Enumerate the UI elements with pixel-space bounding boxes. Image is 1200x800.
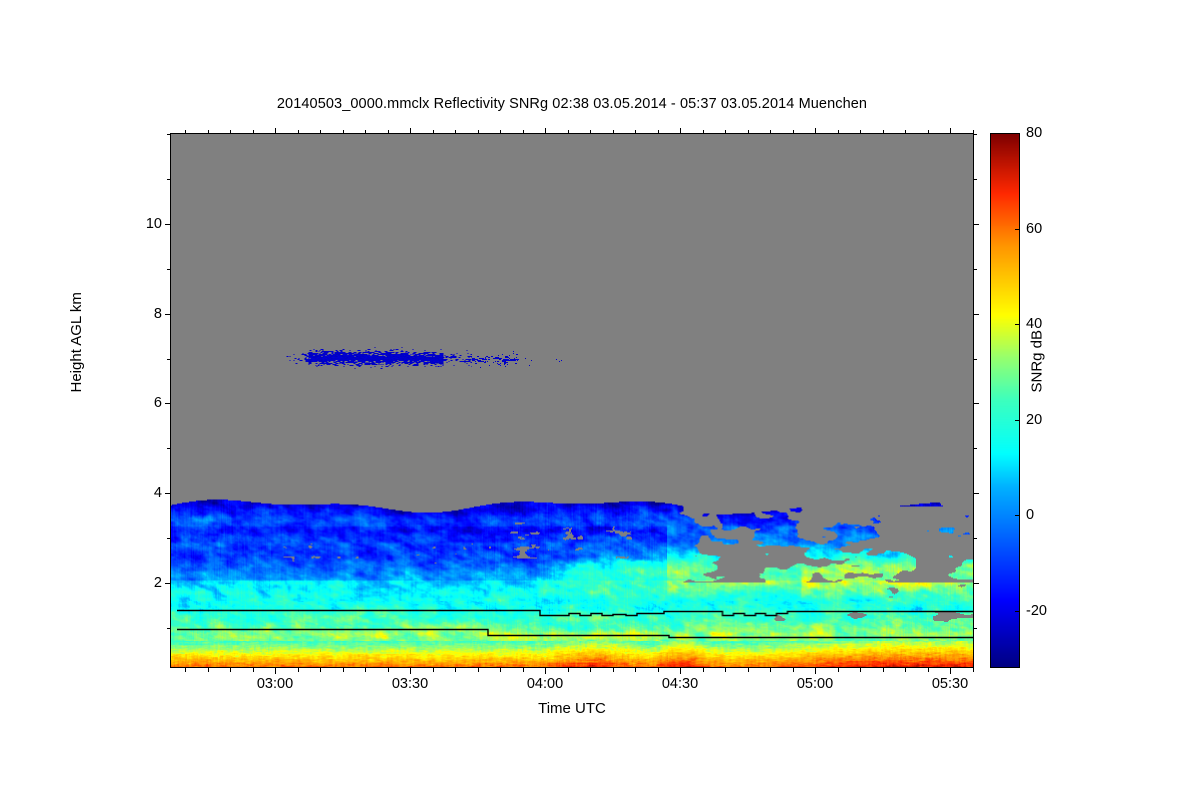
x-tick-minor bbox=[365, 668, 366, 672]
x-tick-minor bbox=[590, 668, 591, 672]
heatmap-plot-area bbox=[170, 133, 974, 668]
x-tick-minor-top bbox=[838, 130, 839, 134]
y-tick-label: 6 bbox=[124, 395, 162, 411]
y-tick-minor-right bbox=[973, 448, 977, 449]
colorbar-tick-label: 0 bbox=[1026, 507, 1034, 523]
x-tick-minor-top bbox=[680, 130, 681, 134]
y-tick-label: 8 bbox=[124, 306, 162, 322]
y-tick-minor-right bbox=[973, 403, 977, 404]
x-tick-minor bbox=[388, 668, 389, 672]
y-tick-label: 10 bbox=[124, 216, 162, 232]
x-tick-minor-top bbox=[433, 130, 434, 134]
x-tick-minor bbox=[275, 668, 276, 672]
y-tick-minor bbox=[167, 269, 171, 270]
x-tick-minor bbox=[455, 668, 456, 672]
y-tick-minor-right bbox=[973, 134, 977, 135]
x-tick-minor bbox=[500, 668, 501, 672]
y-tick-minor-right bbox=[973, 179, 977, 180]
x-tick-minor bbox=[838, 668, 839, 672]
y-tick-minor bbox=[167, 493, 171, 494]
x-tick-label: 05:30 bbox=[932, 676, 968, 692]
x-tick-minor-top bbox=[388, 130, 389, 134]
x-tick-minor bbox=[230, 668, 231, 672]
y-tick-minor bbox=[167, 314, 171, 315]
x-tick-minor bbox=[185, 668, 186, 672]
x-tick-minor-top bbox=[860, 130, 861, 134]
y-tick-label: 4 bbox=[124, 485, 162, 501]
x-tick-minor bbox=[523, 668, 524, 672]
x-tick-minor-top bbox=[253, 130, 254, 134]
x-tick-minor-top bbox=[545, 130, 546, 134]
x-axis-label: Time UTC bbox=[170, 700, 974, 717]
x-tick-minor bbox=[635, 668, 636, 672]
x-tick-minor-top bbox=[568, 130, 569, 134]
x-tick-minor-top bbox=[725, 130, 726, 134]
x-tick-minor bbox=[253, 668, 254, 672]
x-tick-label: 05:00 bbox=[797, 676, 833, 692]
x-tick-minor bbox=[928, 668, 929, 672]
colorbar-gradient bbox=[991, 134, 1019, 667]
x-tick-minor bbox=[680, 668, 681, 672]
y-axis-label: Height AGL km bbox=[68, 292, 85, 392]
y-tick-minor bbox=[167, 538, 171, 539]
y-tick-minor-right bbox=[973, 583, 977, 584]
x-tick-minor bbox=[613, 668, 614, 672]
x-tick-minor-top bbox=[275, 130, 276, 134]
colorbar-label: SNRg dB bbox=[1029, 329, 1046, 392]
x-tick-minor bbox=[770, 668, 771, 672]
colorbar-tick bbox=[1015, 611, 1020, 612]
x-tick-minor-top bbox=[185, 130, 186, 134]
x-tick-minor-top bbox=[455, 130, 456, 134]
y-tick-minor bbox=[167, 359, 171, 360]
colorbar-tick-label: -20 bbox=[1026, 603, 1047, 619]
y-tick-minor bbox=[167, 179, 171, 180]
x-tick-minor bbox=[320, 668, 321, 672]
y-tick-minor-right bbox=[973, 359, 977, 360]
x-tick-minor bbox=[883, 668, 884, 672]
colorbar-tick bbox=[1015, 324, 1020, 325]
x-tick-label: 04:30 bbox=[662, 676, 698, 692]
x-tick-minor bbox=[748, 668, 749, 672]
y-tick-minor-right bbox=[973, 314, 977, 315]
x-tick-minor-top bbox=[478, 130, 479, 134]
x-tick-minor bbox=[298, 668, 299, 672]
x-tick-minor bbox=[703, 668, 704, 672]
x-tick-minor bbox=[478, 668, 479, 672]
x-tick-label: 04:00 bbox=[527, 676, 563, 692]
x-tick-minor-top bbox=[883, 130, 884, 134]
x-tick-minor bbox=[793, 668, 794, 672]
x-tick-minor bbox=[410, 668, 411, 672]
page-title: 20140503_0000.mmclx Reflectivity SNRg 02… bbox=[170, 96, 974, 112]
x-tick-minor bbox=[725, 668, 726, 672]
x-tick-minor-top bbox=[703, 130, 704, 134]
x-tick-minor bbox=[545, 668, 546, 672]
y-tick-minor bbox=[167, 628, 171, 629]
reflectivity-heatmap-canvas bbox=[171, 134, 973, 667]
colorbar-tick bbox=[1015, 420, 1020, 421]
x-tick-minor-top bbox=[500, 130, 501, 134]
x-tick-minor bbox=[905, 668, 906, 672]
colorbar bbox=[990, 133, 1020, 668]
x-tick-minor bbox=[343, 668, 344, 672]
colorbar-tick-label: 80 bbox=[1026, 125, 1042, 141]
x-tick-label: 03:30 bbox=[392, 676, 428, 692]
x-tick-minor bbox=[950, 668, 951, 672]
x-tick-minor-top bbox=[793, 130, 794, 134]
x-tick-minor bbox=[658, 668, 659, 672]
colorbar-tick bbox=[1015, 229, 1020, 230]
colorbar-tick-label: 60 bbox=[1026, 221, 1042, 237]
colorbar-tick-label: 20 bbox=[1026, 412, 1042, 428]
x-tick-minor-top bbox=[950, 130, 951, 134]
x-tick-minor bbox=[815, 668, 816, 672]
x-tick-minor-top bbox=[613, 130, 614, 134]
x-tick-minor bbox=[860, 668, 861, 672]
x-tick-minor-top bbox=[523, 130, 524, 134]
x-tick-minor bbox=[973, 668, 974, 672]
y-tick-minor-right bbox=[973, 628, 977, 629]
y-tick-minor bbox=[167, 134, 171, 135]
x-tick-minor-top bbox=[748, 130, 749, 134]
y-tick-minor bbox=[167, 583, 171, 584]
y-tick-minor bbox=[167, 403, 171, 404]
y-tick-label: 2 bbox=[124, 575, 162, 591]
y-tick-minor-right bbox=[973, 224, 977, 225]
y-tick-minor-right bbox=[973, 538, 977, 539]
x-tick-minor-top bbox=[230, 130, 231, 134]
x-tick-minor-top bbox=[410, 130, 411, 134]
x-tick-minor-top bbox=[635, 130, 636, 134]
y-tick-minor bbox=[167, 224, 171, 225]
y-tick-minor-right bbox=[973, 493, 977, 494]
x-tick-minor-top bbox=[298, 130, 299, 134]
x-tick-minor bbox=[433, 668, 434, 672]
y-tick-minor-right bbox=[973, 269, 977, 270]
x-tick-minor-top bbox=[928, 130, 929, 134]
x-tick-minor-top bbox=[815, 130, 816, 134]
radar-reflectivity-figure: 20140503_0000.mmclx Reflectivity SNRg 02… bbox=[0, 0, 1200, 800]
x-tick-minor bbox=[208, 668, 209, 672]
x-tick-minor-top bbox=[658, 130, 659, 134]
colorbar-tick bbox=[1015, 515, 1020, 516]
x-tick-minor-top bbox=[365, 130, 366, 134]
x-tick-minor-top bbox=[905, 130, 906, 134]
x-tick-minor-top bbox=[320, 130, 321, 134]
colorbar-tick bbox=[1015, 133, 1020, 134]
x-tick-minor bbox=[568, 668, 569, 672]
x-tick-minor-top bbox=[590, 130, 591, 134]
x-tick-minor-top bbox=[343, 130, 344, 134]
y-tick-minor bbox=[167, 448, 171, 449]
x-tick-minor-top bbox=[208, 130, 209, 134]
x-tick-minor-top bbox=[770, 130, 771, 134]
x-tick-label: 03:00 bbox=[257, 676, 293, 692]
